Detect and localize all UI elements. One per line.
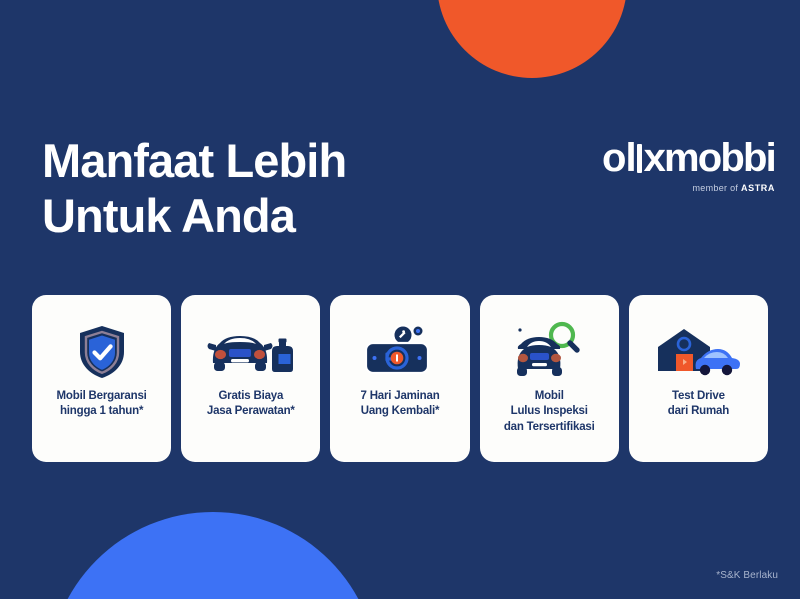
benefit-card-label: Mobil Bergaransi hingga 1 tahun* bbox=[51, 389, 153, 420]
benefit-card-inspection[interactable]: Mobil Lulus Inspeksi dan Tersertifikasi bbox=[480, 295, 619, 462]
benefit-card-warranty[interactable]: Mobil Bergaransi hingga 1 tahun* bbox=[32, 295, 171, 462]
logo-text-ol: ol bbox=[602, 138, 636, 178]
benefit-card-label: Gratis Biaya Jasa Perawatan* bbox=[201, 389, 301, 420]
brand-logo: ol x mobbi member of ASTRA bbox=[602, 138, 775, 193]
label-line: Test Drive bbox=[672, 390, 725, 402]
benefit-card-label: Test Drive dari Rumah bbox=[662, 389, 735, 420]
logo-subtitle-brand: ASTRA bbox=[741, 183, 775, 193]
label-line: Jasa Perawatan* bbox=[207, 405, 295, 417]
label-line: Mobil Bergaransi bbox=[57, 390, 147, 402]
label-line: hingga 1 tahun* bbox=[60, 405, 143, 417]
logo-text-x: x bbox=[644, 138, 664, 178]
house-car-test-drive-icon bbox=[629, 321, 768, 383]
logo-subtitle-prefix: member of bbox=[692, 183, 741, 193]
benefit-card-label: 7 Hari Jaminan Uang Kembali* bbox=[355, 389, 446, 420]
benefit-card-free-service[interactable]: Gratis Biaya Jasa Perawatan* bbox=[181, 295, 320, 462]
page-title-line-1: Manfaat Lebih bbox=[42, 133, 346, 188]
logo-wordmark: ol x mobbi bbox=[602, 138, 775, 178]
logo-bar-icon bbox=[637, 144, 642, 173]
car-oil-bottle-icon bbox=[181, 321, 320, 383]
terms-footnote: *S&K Berlaku bbox=[716, 570, 778, 581]
car-inspection-magnifier-icon bbox=[480, 321, 619, 383]
money-back-icon bbox=[330, 321, 469, 383]
benefit-card-list: Mobil Bergaransi hingga 1 tahun* bbox=[32, 295, 768, 462]
blue-circle-decoration bbox=[48, 512, 378, 599]
logo-subtitle: member of ASTRA bbox=[602, 183, 775, 193]
benefit-card-money-back[interactable]: 7 Hari Jaminan Uang Kembali* bbox=[330, 295, 469, 462]
shield-check-icon bbox=[32, 321, 171, 383]
benefit-card-test-drive[interactable]: Test Drive dari Rumah bbox=[629, 295, 768, 462]
label-line: 7 Hari Jaminan bbox=[361, 390, 440, 402]
label-line: Mobil bbox=[535, 390, 564, 402]
label-line: dan Tersertifikasi bbox=[504, 421, 595, 433]
logo-text-mobbi: mobbi bbox=[664, 138, 775, 178]
orange-circle-decoration bbox=[437, 0, 627, 78]
promo-banner: Manfaat Lebih Untuk Anda ol x mobbi memb… bbox=[0, 0, 800, 599]
label-line: Lulus Inspeksi bbox=[511, 405, 588, 417]
label-line: Uang Kembali* bbox=[361, 405, 440, 417]
benefit-card-label: Mobil Lulus Inspeksi dan Tersertifikasi bbox=[498, 389, 601, 435]
page-title: Manfaat Lebih Untuk Anda bbox=[42, 133, 346, 244]
page-title-line-2: Untuk Anda bbox=[42, 188, 346, 243]
label-line: Gratis Biaya bbox=[218, 390, 283, 402]
label-line: dari Rumah bbox=[668, 405, 729, 417]
